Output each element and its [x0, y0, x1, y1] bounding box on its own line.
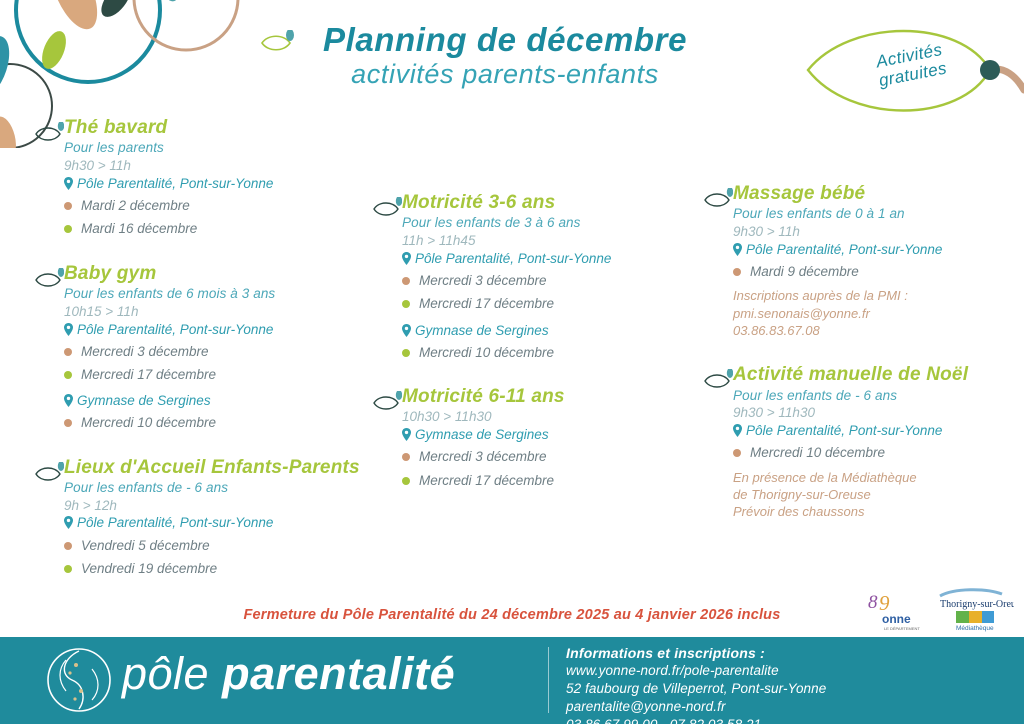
- date-dot-icon: [64, 419, 72, 427]
- date-dot-icon: [733, 268, 741, 276]
- svg-text:LE DÉPARTEMENT: LE DÉPARTEMENT: [884, 626, 920, 631]
- activity-date-row: Vendredi 5 décembre: [64, 538, 364, 554]
- date-label: Vendredi 19 décembre: [81, 561, 217, 577]
- activity-date-row: Mercredi 3 décembre: [64, 344, 364, 360]
- location-pin-icon: [402, 428, 411, 441]
- activity-block: Activité manuelle de NoëlPour les enfant…: [703, 365, 1024, 520]
- contact-title: Informations et inscriptions :: [566, 644, 826, 662]
- date-dot-icon: [64, 565, 72, 573]
- date-dot-icon: [64, 225, 72, 233]
- note-line: Inscriptions auprès de la PMI :: [733, 287, 1024, 304]
- activity-place-group: Pôle Parentalité, Pont-sur-Yonne Vendred…: [64, 514, 364, 577]
- column-right: Massage bébéPour les enfants de 0 à 1 an…: [703, 184, 1024, 546]
- date-dot-icon: [64, 348, 72, 356]
- activity-block: Lieux d'Accueil Enfants-ParentsPour les …: [34, 458, 364, 578]
- activity-place-group: Gymnase de Sergines Mercredi 3 décembre …: [402, 426, 702, 489]
- date-label: Mardi 2 décembre: [81, 198, 190, 214]
- activity-title: Lieux d'Accueil Enfants-Parents: [64, 458, 364, 478]
- activity-audience: Pour les enfants de - 6 ans: [733, 387, 1024, 405]
- location-label: Gymnase de Sergines: [415, 322, 549, 340]
- activity-time: 9h30 > 11h: [733, 223, 1024, 241]
- activity-location: Pôle Parentalité, Pont-sur-Yonne: [64, 175, 364, 193]
- activity-place-group: Pôle Parentalité, Pont-sur-Yonne Mercred…: [64, 321, 364, 384]
- location-label: Gymnase de Sergines: [415, 426, 549, 444]
- svg-text:Thorigny-sur-Oreuse: Thorigny-sur-Oreuse: [940, 599, 1014, 610]
- column-left: Thé bavardPour les parents9h30 > 11h Pôl…: [34, 118, 364, 603]
- footer-contact-info: Informations et inscriptions : www.yonne…: [566, 644, 826, 724]
- activity-location: Pôle Parentalité, Pont-sur-Yonne: [402, 250, 702, 268]
- note-line: pmi.senonais@yonne.fr: [733, 305, 1024, 322]
- location-pin-icon: [733, 424, 742, 437]
- contact-line: 03.86.67.99.00 - 07.82.03.58.21: [566, 716, 826, 724]
- block-leaf-icon: [703, 369, 733, 391]
- location-label: Pôle Parentalité, Pont-sur-Yonne: [77, 514, 273, 532]
- location-pin-icon: [64, 394, 73, 407]
- activity-location: Pôle Parentalité, Pont-sur-Yonne: [733, 422, 1024, 440]
- activity-time: 9h30 > 11h30: [733, 404, 1024, 422]
- date-label: Mardi 9 décembre: [750, 264, 859, 280]
- column-middle: Motricité 3-6 ansPour les enfants de 3 à…: [372, 193, 702, 515]
- activity-place-group: Pôle Parentalité, Pont-sur-Yonne Mardi 9…: [733, 241, 1024, 280]
- location-pin-icon: [64, 323, 73, 336]
- activity-location: Gymnase de Sergines: [402, 426, 702, 444]
- activity-block: Motricité 3-6 ansPour les enfants de 3 à…: [372, 193, 702, 361]
- date-dot-icon: [402, 349, 410, 357]
- activity-location: Pôle Parentalité, Pont-sur-Yonne: [64, 321, 364, 339]
- contact-line: 52 faubourg de Villeperrot, Pont-sur-Yon…: [566, 680, 826, 698]
- block-leaf-icon: [372, 391, 402, 413]
- date-dot-icon: [64, 371, 72, 379]
- footer-brand: pôle parentalité: [122, 651, 455, 696]
- svg-text:8: 8: [868, 592, 878, 613]
- thorigny-mediatheque-logo: Thorigny-sur-Oreuse Médiathèque: [936, 586, 1014, 632]
- activity-date-row: Mercredi 3 décembre: [402, 273, 702, 289]
- date-dot-icon: [64, 202, 72, 210]
- note-line: En présence de la Médiathèque: [733, 469, 1024, 486]
- activity-place-group: Gymnase de Sergines Mercredi 10 décembre: [64, 392, 364, 431]
- date-dot-icon: [733, 449, 741, 457]
- activity-date-row: Mercredi 10 décembre: [64, 415, 364, 431]
- date-dot-icon: [402, 477, 410, 485]
- contact-line: www.yonne-nord.fr/pole-parentalite: [566, 662, 826, 680]
- note-line: de Thorigny-sur-Oreuse: [733, 486, 1024, 503]
- activity-dates: Mercredi 3 décembre Mercredi 17 décembre: [64, 344, 364, 383]
- block-leaf-icon: [34, 462, 64, 484]
- activity-time: 11h > 11h45: [402, 232, 702, 250]
- activity-dates: Mercredi 10 décembre: [64, 415, 364, 431]
- header-leaf-icon: [260, 30, 294, 54]
- location-label: Pôle Parentalité, Pont-sur-Yonne: [746, 241, 942, 259]
- location-pin-icon: [402, 252, 411, 265]
- activity-date-row: Mardi 9 décembre: [733, 264, 1024, 280]
- date-label: Vendredi 5 décembre: [81, 538, 210, 554]
- date-dot-icon: [402, 453, 410, 461]
- svg-text:onne: onne: [882, 612, 911, 626]
- brand-parentalite: parentalité: [222, 648, 455, 699]
- activity-place-group: Gymnase de Sergines Mercredi 10 décembre: [402, 322, 702, 361]
- activity-date-row: Mardi 2 décembre: [64, 198, 364, 214]
- activity-dates: Mardi 9 décembre: [733, 264, 1024, 280]
- activity-time: 10h30 > 11h30: [402, 408, 702, 426]
- date-label: Mercredi 17 décembre: [419, 296, 554, 312]
- activity-dates: Mercredi 3 décembre Mercredi 17 décembre: [402, 273, 702, 312]
- date-label: Mercredi 3 décembre: [81, 344, 209, 360]
- block-leaf-icon: [34, 268, 64, 290]
- activity-location: Pôle Parentalité, Pont-sur-Yonne: [733, 241, 1024, 259]
- poster-root: Activités gratuites Planning de décembre…: [0, 0, 1024, 724]
- block-leaf-icon: [703, 188, 733, 210]
- date-dot-icon: [64, 542, 72, 550]
- brand-pole: pôle: [122, 648, 209, 699]
- activity-date-row: Vendredi 19 décembre: [64, 561, 364, 577]
- activity-dates: Mercredi 10 décembre: [402, 345, 702, 361]
- location-label: Pôle Parentalité, Pont-sur-Yonne: [77, 175, 273, 193]
- activity-block: Thé bavardPour les parents9h30 > 11h Pôl…: [34, 118, 364, 238]
- page-title: Planning de décembre: [255, 22, 755, 58]
- date-label: Mercredi 3 décembre: [419, 273, 547, 289]
- location-label: Pôle Parentalité, Pont-sur-Yonne: [415, 250, 611, 268]
- activity-title: Massage bébé: [733, 184, 1024, 204]
- activity-date-row: Mercredi 17 décembre: [64, 367, 364, 383]
- contact-line: parentalite@yonne-nord.fr: [566, 698, 826, 716]
- note-line: Prévoir des chaussons: [733, 503, 1024, 520]
- activity-location: Gymnase de Sergines: [402, 322, 702, 340]
- contact-lines: www.yonne-nord.fr/pole-parentalite52 fau…: [566, 662, 826, 724]
- location-pin-icon: [402, 324, 411, 337]
- activity-date-row: Mercredi 17 décembre: [402, 296, 702, 312]
- activity-date-row: Mercredi 3 décembre: [402, 449, 702, 465]
- free-activities-label: Activités gratuites: [844, 34, 979, 96]
- pole-parentalite-logo: [46, 647, 112, 713]
- activity-block: Baby gymPour les enfants de 6 mois à 3 a…: [34, 264, 364, 432]
- location-label: Pôle Parentalité, Pont-sur-Yonne: [746, 422, 942, 440]
- date-label: Mercredi 17 décembre: [81, 367, 216, 383]
- activity-audience: Pour les parents: [64, 139, 364, 157]
- activity-time: 9h30 > 11h: [64, 157, 364, 175]
- activity-block: Massage bébéPour les enfants de 0 à 1 an…: [703, 184, 1024, 339]
- block-leaf-icon: [34, 122, 64, 144]
- activity-date-row: Mardi 16 décembre: [64, 221, 364, 237]
- date-label: Mercredi 10 décembre: [750, 445, 885, 461]
- block-leaf-icon: [372, 197, 402, 219]
- location-label: Gymnase de Sergines: [77, 392, 211, 410]
- activity-title: Motricité 6-11 ans: [402, 387, 702, 407]
- activity-title: Thé bavard: [64, 118, 364, 138]
- date-dot-icon: [402, 277, 410, 285]
- page-subtitle: activités parents-enfants: [255, 59, 755, 90]
- location-pin-icon: [64, 516, 73, 529]
- activity-dates: Vendredi 5 décembre Vendredi 19 décembre: [64, 538, 364, 577]
- location-label: Pôle Parentalité, Pont-sur-Yonne: [77, 321, 273, 339]
- date-dot-icon: [402, 300, 410, 308]
- activity-location: Gymnase de Sergines: [64, 392, 364, 410]
- location-pin-icon: [733, 243, 742, 256]
- date-label: Mardi 16 décembre: [81, 221, 197, 237]
- svg-text:Médiathèque: Médiathèque: [956, 625, 994, 632]
- activity-title: Baby gym: [64, 264, 364, 284]
- date-label: Mercredi 10 décembre: [419, 345, 554, 361]
- activity-time: 9h > 12h: [64, 497, 364, 515]
- activity-place-group: Pôle Parentalité, Pont-sur-Yonne Mercred…: [402, 250, 702, 313]
- activity-note: Inscriptions auprès de la PMI :pmi.senon…: [733, 287, 1024, 339]
- activity-audience: Pour les enfants de - 6 ans: [64, 479, 364, 497]
- activity-audience: Pour les enfants de 6 mois à 3 ans: [64, 285, 364, 303]
- date-label: Mercredi 10 décembre: [81, 415, 216, 431]
- activity-date-row: Mercredi 10 décembre: [733, 445, 1024, 461]
- date-label: Mercredi 3 décembre: [419, 449, 547, 465]
- activity-dates: Mardi 2 décembre Mardi 16 décembre: [64, 198, 364, 237]
- activity-place-group: Pôle Parentalité, Pont-sur-Yonne Mardi 2…: [64, 175, 364, 238]
- activity-location: Pôle Parentalité, Pont-sur-Yonne: [64, 514, 364, 532]
- footer-band: pôle parentalité Communauté de Communes …: [0, 637, 1024, 724]
- activity-title: Activité manuelle de Noël: [733, 365, 1024, 385]
- note-line: 03.86.83.67.08: [733, 322, 1024, 339]
- activity-title: Motricité 3-6 ans: [402, 193, 702, 213]
- footer-divider-1: [548, 647, 549, 713]
- activity-date-row: Mercredi 10 décembre: [402, 345, 702, 361]
- poster-header: Planning de décembre activités parents-e…: [255, 22, 755, 90]
- activity-note: En présence de la Médiathèquede Thorigny…: [733, 469, 1024, 521]
- activity-dates: Mercredi 3 décembre Mercredi 17 décembre: [402, 449, 702, 488]
- activity-time: 10h15 > 11h: [64, 303, 364, 321]
- sponsor-logos-top: 8 9 onne LE DÉPARTEMENT Thorigny-sur-Ore…: [866, 582, 1018, 632]
- activity-block: Motricité 6-11 ans10h30 > 11h30 Gymnase …: [372, 387, 702, 489]
- location-pin-icon: [64, 177, 73, 190]
- date-label: Mercredi 17 décembre: [419, 473, 554, 489]
- yonne-department-logo: 8 9 onne LE DÉPARTEMENT: [866, 588, 928, 632]
- activity-dates: Mercredi 10 décembre: [733, 445, 1024, 461]
- activity-date-row: Mercredi 17 décembre: [402, 473, 702, 489]
- activity-place-group: Pôle Parentalité, Pont-sur-Yonne Mercred…: [733, 422, 1024, 461]
- activity-audience: Pour les enfants de 0 à 1 an: [733, 205, 1024, 223]
- activity-audience: Pour les enfants de 3 à 6 ans: [402, 214, 702, 232]
